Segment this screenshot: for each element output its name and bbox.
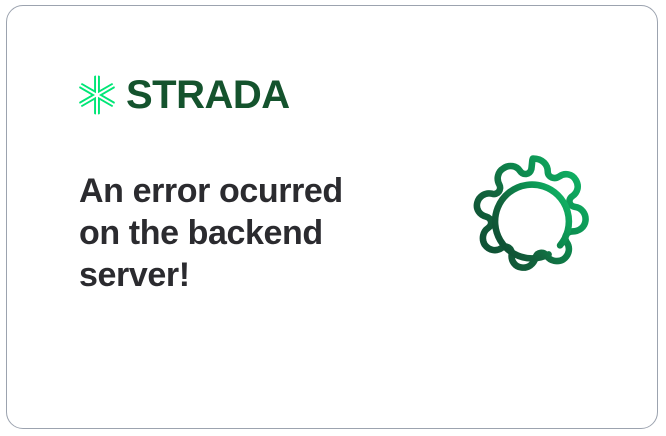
screen-root: STRADA An error ocurred on the backend s… xyxy=(0,0,666,436)
gear-inner-arc xyxy=(495,185,569,259)
asterisk-star-icon xyxy=(77,75,117,115)
error-message-text: An error ocurred on the backend server! xyxy=(79,170,379,296)
error-card: STRADA An error ocurred on the backend s… xyxy=(6,5,658,429)
brand-wordmark: STRADA xyxy=(126,75,290,115)
gear-cog-icon xyxy=(451,144,615,314)
brand-logo: STRADA xyxy=(77,75,290,115)
